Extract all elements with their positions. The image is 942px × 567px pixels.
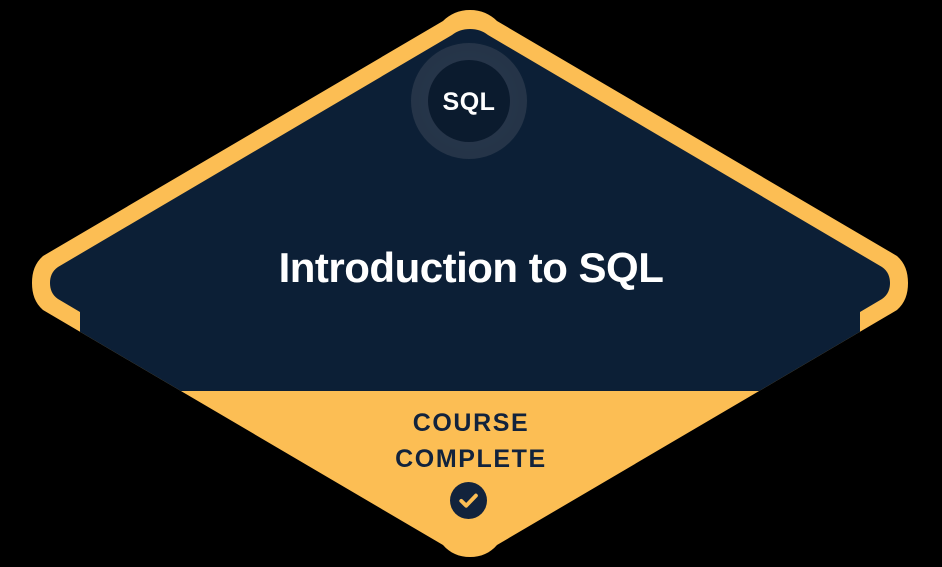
badge-graphic: [0, 0, 942, 567]
course-completion-badge: SQL Introduction to SQL COURSE COMPLETE: [0, 0, 942, 567]
skill-chip-ring-inner: [428, 60, 510, 142]
